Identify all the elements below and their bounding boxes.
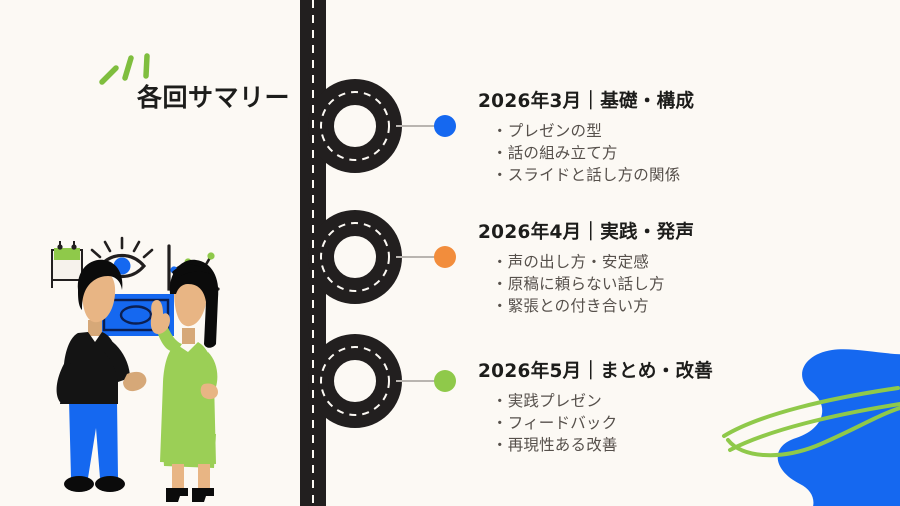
people-talking-illustration	[38, 232, 243, 506]
list-item: ・話の組み立て方	[492, 142, 694, 164]
milestone-bullets-2: ・声の出し方・安定感 ・原稿に頼らない話し方 ・緊張との付き合い方	[492, 251, 694, 317]
milestone-block-1: 2026年3月｜基礎・構成 ・プレゼンの型 ・話の組み立て方 ・スライドと話し方…	[478, 87, 694, 186]
page-title: 各回サマリー	[137, 78, 290, 114]
milestone-dot-3	[434, 370, 456, 392]
list-item: ・緊張との付き合い方	[492, 295, 694, 317]
road-timeline-illustration	[288, 0, 418, 506]
milestone-heading-1: 2026年3月｜基礎・構成	[478, 87, 694, 113]
milestone-heading-2: 2026年4月｜実践・発声	[478, 218, 694, 244]
green-line-strokes-decoration	[720, 374, 900, 484]
calendar-plant-icon	[52, 241, 82, 288]
milestone-bullets-1: ・プレゼンの型 ・話の組み立て方 ・スライドと話し方の関係	[492, 120, 694, 186]
connector-line-1	[396, 125, 436, 127]
list-item: ・原稿に頼らない話し方	[492, 273, 694, 295]
list-item: ・フィードバック	[492, 412, 713, 434]
milestone-dot-1	[434, 115, 456, 137]
milestone-heading-3: 2026年5月｜まとめ・改善	[478, 357, 713, 383]
slide-canvas: 各回サマリー 2026年3月｜基礎・構成 ・プレゼンの型 ・話の組み立て方 ・ス	[0, 0, 900, 506]
list-item: ・再現性ある改善	[492, 434, 713, 456]
list-item: ・声の出し方・安定感	[492, 251, 694, 273]
list-item: ・プレゼンの型	[492, 120, 694, 142]
connector-line-2	[396, 256, 436, 258]
milestone-bullets-3: ・実践プレゼン ・フィードバック ・再現性ある改善	[492, 390, 713, 456]
milestone-block-3: 2026年5月｜まとめ・改善 ・実践プレゼン ・フィードバック ・再現性ある改善	[478, 357, 713, 456]
milestone-block-2: 2026年4月｜実践・発声 ・声の出し方・安定感 ・原稿に頼らない話し方 ・緊張…	[478, 218, 694, 317]
list-item: ・スライドと話し方の関係	[492, 164, 694, 186]
milestone-dot-2	[434, 246, 456, 268]
list-item: ・実践プレゼン	[492, 390, 713, 412]
connector-line-3	[396, 380, 436, 382]
